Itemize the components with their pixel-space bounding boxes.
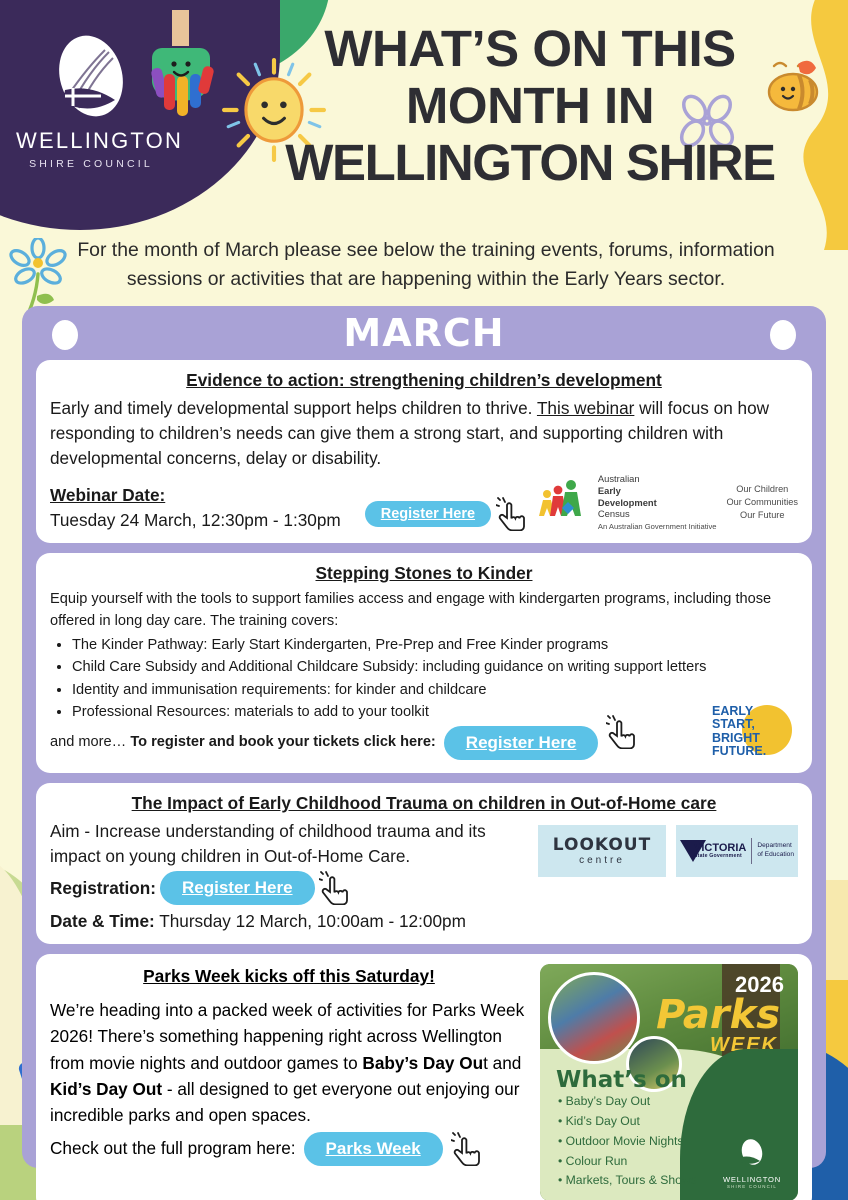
- webinar-link[interactable]: This webinar: [537, 398, 634, 418]
- list-item: Colour Run: [558, 1152, 697, 1172]
- early-start-bright-future-logo: EARLY START, BRIGHT FUTURE.: [706, 697, 798, 763]
- webinar-date-block: Webinar Date: Tuesday 24 March, 12:30pm …: [50, 483, 341, 533]
- parks-week-button[interactable]: Parks Week: [304, 1132, 443, 1166]
- webinar-date-label: Webinar Date:: [50, 483, 341, 508]
- promo-parks-word: Parks: [656, 992, 780, 1038]
- list-item: Baby’s Day Out: [558, 1092, 697, 1112]
- card-logos: LOOKOUT centre VICTORIA State Government: [538, 825, 798, 877]
- register-here-button[interactable]: Register Here: [365, 501, 491, 527]
- parks-cta-label: Check out the full program here:: [50, 1138, 296, 1159]
- list-item: Outdoor Movie Nights: [558, 1132, 697, 1152]
- click-cursor-icon: [451, 1132, 485, 1166]
- wellington-shire-logo: WELLINGTON SHIRE COUNCIL: [16, 32, 166, 170]
- victoria-wordmark: VICTORIA State Government: [694, 843, 746, 859]
- register-here-button[interactable]: Register Here: [444, 726, 599, 760]
- panel-header: MARCH: [22, 306, 826, 360]
- card-aim: Aim - Increase understanding of childhoo…: [50, 819, 538, 869]
- title-line-1: WHAT’S ON THIS: [240, 20, 820, 77]
- footer-bold: To register and book your tickets click …: [130, 734, 435, 750]
- aedc-line-1: Australian: [598, 473, 717, 485]
- card-text-column: Aim - Increase understanding of childhoo…: [50, 819, 538, 934]
- aedc-line-3: Development: [598, 497, 717, 509]
- parks-week-promo-image: 2026 Parks WEEK What’s on Baby’s Day Out…: [540, 964, 798, 1200]
- logo-name-text: WELLINGTON: [16, 128, 166, 154]
- card-title: Stepping Stones to Kinder: [50, 563, 798, 584]
- aedc-line-2: Early: [598, 485, 717, 497]
- victoria-dept-text: Department of Education: [757, 842, 794, 860]
- datetime-value: Thursday 12 March, 10:00am - 12:00pm: [159, 911, 466, 931]
- card-content-row: Aim - Increase understanding of childhoo…: [50, 819, 798, 934]
- aedc-tagline: Our Children Our Communities Our Future: [727, 483, 798, 522]
- event-card-stepping-stones: Stepping Stones to Kinder Equip yourself…: [36, 553, 812, 773]
- march-panel: MARCH Evidence to action: strengthening …: [22, 306, 826, 1168]
- poster-page: WELLINGTON SHIRE COUNCIL WHAT’S ON THIS …: [0, 0, 848, 1200]
- title-line-2: MONTH IN: [240, 77, 820, 134]
- event-card-evidence-to-action: Evidence to action: strengthening childr…: [36, 360, 812, 543]
- click-cursor-icon: [319, 871, 353, 905]
- datetime-row: Date & Time: Thursday 12 March, 10:00am …: [50, 909, 538, 934]
- aedc-initiative: An Australian Government Initiative: [598, 522, 717, 531]
- register-here-button[interactable]: Register Here: [160, 871, 315, 905]
- footer-pre: and more…: [50, 734, 130, 750]
- card-footer-row: Webinar Date: Tuesday 24 March, 12:30pm …: [50, 473, 798, 533]
- aedc-figures-icon: [538, 478, 592, 526]
- wellington-leaf-icon-small: [737, 1138, 767, 1170]
- click-cursor-icon: [496, 497, 530, 531]
- card-logos: Australian Early Development Census An A…: [538, 473, 798, 533]
- month-title: MARCH: [22, 306, 826, 360]
- title-line-3: WELLINGTON SHIRE: [240, 134, 820, 191]
- card-content-row: Parks Week kicks off this Saturday! We’r…: [50, 964, 798, 1200]
- card-title: Evidence to action: strengthening childr…: [50, 370, 798, 391]
- list-item: Kid’s Day Out: [558, 1112, 697, 1132]
- register-button-wrap: Register Here: [347, 497, 530, 533]
- parks-bold-1: Baby’s Day Ou: [362, 1053, 483, 1073]
- card-body: Early and timely developmental support h…: [50, 396, 798, 471]
- promo-activity-list: Baby’s Day Out Kid’s Day Out Outdoor Mov…: [558, 1092, 697, 1191]
- webinar-date-value: Tuesday 24 March, 12:30pm - 1:30pm: [50, 508, 341, 533]
- logo-sub-text: SHIRE COUNCIL: [16, 158, 166, 170]
- aedc-text: Australian Early Development Census An A…: [598, 473, 717, 531]
- registration-label: Registration:: [50, 876, 156, 901]
- promo-logo-sub: SHIRE COUNCIL: [720, 1184, 784, 1189]
- victoria-divider: [751, 838, 752, 864]
- list-item: Professional Resources: materials to add…: [72, 701, 798, 723]
- promo-wellington-logo: WELLINGTON SHIRE COUNCIL: [720, 1138, 784, 1189]
- lookout-line-1: LOOKOUT: [553, 835, 651, 855]
- card-footer-row: and more… To register and book your tick…: [50, 723, 798, 763]
- panel-dot-left: [52, 320, 78, 350]
- card-title: The Impact of Early Childhood Trauma on …: [50, 793, 798, 814]
- aedc-logo: Australian Early Development Census An A…: [538, 473, 717, 531]
- victoria-dept-education-logo: VICTORIA State Government Department of …: [676, 825, 798, 877]
- body-pre: Early and timely developmental support h…: [50, 398, 537, 418]
- victoria-sub: State Government: [694, 854, 746, 859]
- list-item: Child Care Subsidy and Additional Childc…: [72, 656, 798, 678]
- victoria-main: VICTORIA: [694, 842, 746, 854]
- click-cursor-icon: [606, 715, 640, 749]
- register-prompt: and more… To register and book your tick…: [50, 732, 436, 753]
- training-covers-list: The Kinder Pathway: Early Start Kinderga…: [72, 634, 798, 723]
- card-text-column: Parks Week kicks off this Saturday! We’r…: [50, 964, 528, 1200]
- promo-logo-name: WELLINGTON: [720, 1175, 784, 1184]
- esbf-line-4: FUTURE.: [712, 745, 766, 759]
- parks-bold-2: Kid’s Day Out: [50, 1079, 162, 1099]
- lookout-line-2: centre: [579, 855, 625, 866]
- parks-text-tail: t and: [483, 1053, 521, 1073]
- list-item: Identity and immunisation requirements: …: [72, 679, 798, 701]
- panel-dot-right: [770, 320, 796, 350]
- promo-photo-circle-1: [548, 972, 640, 1064]
- registration-row: Registration: Register Here: [50, 871, 538, 905]
- card-body: We’re heading into a packed week of acti…: [50, 997, 528, 1128]
- list-item: The Kinder Pathway: Early Start Kinderga…: [72, 634, 798, 656]
- intro-paragraph: For the month of March please see below …: [46, 236, 806, 295]
- datetime-label: Date & Time:: [50, 911, 155, 931]
- event-card-parks-week: Parks Week kicks off this Saturday! We’r…: [36, 954, 812, 1200]
- card-intro: Equip yourself with the tools to support…: [50, 589, 798, 632]
- promo-whats-on-heading: What’s on: [556, 1067, 687, 1093]
- esbf-line-3: BRIGHT: [712, 732, 766, 746]
- card-title: Parks Week kicks off this Saturday!: [50, 966, 528, 987]
- lookout-centre-logo: LOOKOUT centre: [538, 825, 666, 877]
- esbf-line-1: EARLY: [712, 705, 766, 719]
- aedc-line-4: Census: [598, 508, 717, 520]
- esbf-line-2: START,: [712, 718, 766, 732]
- list-item: Markets, Tours & Shows: [558, 1171, 697, 1191]
- victoria-mark: VICTORIA State Government: [680, 840, 746, 862]
- page-title: WHAT’S ON THIS MONTH IN WELLINGTON SHIRE: [240, 20, 820, 191]
- wellington-leaf-icon: [47, 32, 135, 124]
- parks-cta-row: Check out the full program here: Parks W…: [50, 1132, 528, 1166]
- event-card-childhood-trauma: The Impact of Early Childhood Trauma on …: [36, 783, 812, 944]
